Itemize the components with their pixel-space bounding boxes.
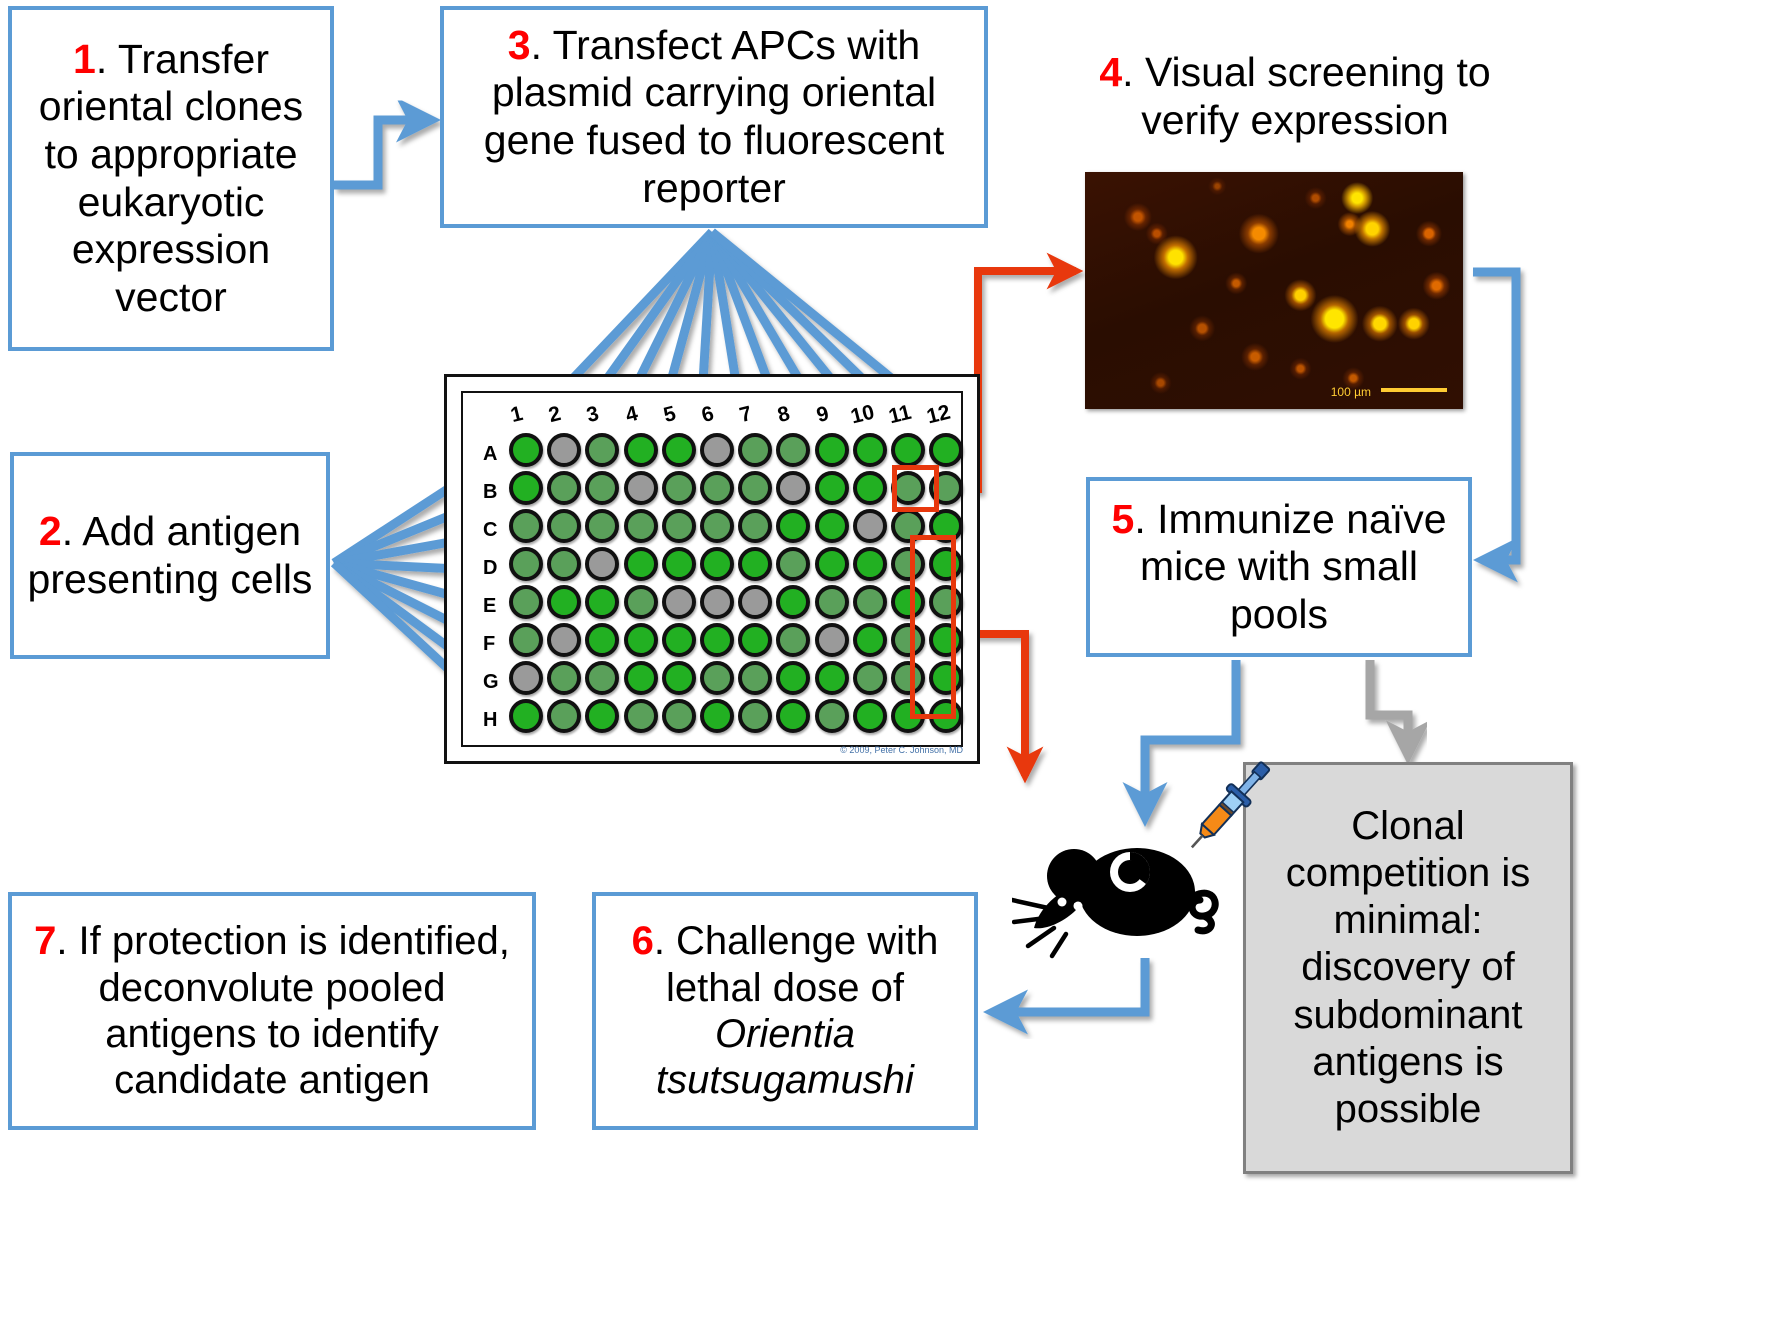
plate-well-C6[interactable] bbox=[700, 509, 734, 543]
workflow-diagram: 1. Transfer oriental clones to appropria… bbox=[0, 0, 1772, 1334]
plate-well-E2[interactable] bbox=[547, 585, 581, 619]
selected-well-highlight[interactable] bbox=[892, 465, 939, 512]
plate-well-F1[interactable] bbox=[509, 623, 543, 657]
plate-well-H6[interactable] bbox=[700, 699, 734, 733]
step-6-species: Orientia tsutsugamushi bbox=[656, 1012, 914, 1102]
step-3-text: . Transfect APCs with plasmid carrying o… bbox=[484, 22, 944, 211]
plate-well-B6[interactable] bbox=[700, 471, 734, 505]
plate-well-A7[interactable] bbox=[738, 433, 772, 467]
plate-well-D3[interactable] bbox=[585, 547, 619, 581]
plate-well-B2[interactable] bbox=[547, 471, 581, 505]
plate-well-H2[interactable] bbox=[547, 699, 581, 733]
plate-well-B5[interactable] bbox=[662, 471, 696, 505]
plate-column-label-2: 2 bbox=[546, 402, 563, 428]
plate-column-headers: 123456789101112 bbox=[513, 403, 965, 429]
plate-well-F2[interactable] bbox=[547, 623, 581, 657]
step-1-box[interactable]: 1. Transfer oriental clones to appropria… bbox=[8, 6, 334, 351]
plate-well-D6[interactable] bbox=[700, 547, 734, 581]
plate-well-H9[interactable] bbox=[815, 699, 849, 733]
plate-row-label-F: F bbox=[483, 633, 495, 656]
plate-well-G4[interactable] bbox=[624, 661, 658, 695]
plate-well-G9[interactable] bbox=[815, 661, 849, 695]
plate-well-F7[interactable] bbox=[738, 623, 772, 657]
plate-column-label-4: 4 bbox=[623, 402, 640, 428]
plate-well-G8[interactable] bbox=[776, 661, 810, 695]
plate-well-C1[interactable] bbox=[509, 509, 543, 543]
plate-well-A4[interactable] bbox=[624, 433, 658, 467]
step-6-box[interactable]: 6. Challenge with lethal dose of Orienti… bbox=[592, 892, 978, 1130]
plate-column-label-3: 3 bbox=[585, 402, 602, 428]
step-2-number: 2 bbox=[39, 508, 62, 554]
plate-well-F8[interactable] bbox=[776, 623, 810, 657]
plate-copyright: © 2009, Peter C. Johnson, MD bbox=[840, 745, 963, 755]
plate-well-D10[interactable] bbox=[853, 547, 887, 581]
plate-well-A10[interactable] bbox=[853, 433, 887, 467]
plate-well-C5[interactable] bbox=[662, 509, 696, 543]
plate-well-F6[interactable] bbox=[700, 623, 734, 657]
plate-well-E4[interactable] bbox=[624, 585, 658, 619]
plate-well-G3[interactable] bbox=[585, 661, 619, 695]
plate-well-E6[interactable] bbox=[700, 585, 734, 619]
plate-well-D2[interactable] bbox=[547, 547, 581, 581]
plate-well-C2[interactable] bbox=[547, 509, 581, 543]
step-3-number: 3 bbox=[508, 22, 531, 68]
plate-column-label-11: 11 bbox=[886, 401, 913, 430]
plate-well-D4[interactable] bbox=[624, 547, 658, 581]
plate-well-B4[interactable] bbox=[624, 471, 658, 505]
plate-well-F5[interactable] bbox=[662, 623, 696, 657]
plate-well-H1[interactable] bbox=[509, 699, 543, 733]
plate-well-B9[interactable] bbox=[815, 471, 849, 505]
plate-well-D5[interactable] bbox=[662, 547, 696, 581]
plate-well-B3[interactable] bbox=[585, 471, 619, 505]
arrow-step1-to-step3 bbox=[334, 120, 432, 185]
plate-well-F3[interactable] bbox=[585, 623, 619, 657]
plate-well-B8[interactable] bbox=[776, 471, 810, 505]
step-5-text: . Immunize naïve mice with small pools bbox=[1134, 496, 1446, 637]
plate-well-B10[interactable] bbox=[853, 471, 887, 505]
plate-well-H10[interactable] bbox=[853, 699, 887, 733]
fluorescence-micrograph-image: 100 µm bbox=[1085, 172, 1463, 409]
plate-row-label-A: A bbox=[483, 443, 497, 466]
plate-well-G1[interactable] bbox=[509, 661, 543, 695]
plate-well-G10[interactable] bbox=[853, 661, 887, 695]
step-4-title: 4. Visual screening to verify expression bbox=[1060, 42, 1530, 152]
plate-well-H4[interactable] bbox=[624, 699, 658, 733]
plate-well-A1[interactable] bbox=[509, 433, 543, 467]
step-4-number: 4 bbox=[1099, 49, 1122, 95]
plate-column-label-6: 6 bbox=[699, 402, 716, 428]
plate-well-C7[interactable] bbox=[738, 509, 772, 543]
plate-well-E9[interactable] bbox=[815, 585, 849, 619]
step-5-box[interactable]: 5. Immunize naïve mice with small pools bbox=[1086, 477, 1472, 657]
plate-well-D8[interactable] bbox=[776, 547, 810, 581]
plate-row-label-B: B bbox=[483, 481, 497, 504]
plate-row-label-D: D bbox=[483, 557, 497, 580]
plate-well-E8[interactable] bbox=[776, 585, 810, 619]
plate-well-B7[interactable] bbox=[738, 471, 772, 505]
step-7-box[interactable]: 7. If protection is identified, deconvol… bbox=[8, 892, 536, 1130]
plate-well-G2[interactable] bbox=[547, 661, 581, 695]
step-7-text: . If protection is identified, deconvolu… bbox=[56, 919, 510, 1102]
step-2-box[interactable]: 2. Add antigen presenting cells bbox=[10, 452, 330, 659]
plate-well-F9[interactable] bbox=[815, 623, 849, 657]
plate-well-A6[interactable] bbox=[700, 433, 734, 467]
plate-well-H8[interactable] bbox=[776, 699, 810, 733]
plate-well-E5[interactable] bbox=[662, 585, 696, 619]
plate-well-C4[interactable] bbox=[624, 509, 658, 543]
arrow-mouse-to-step6 bbox=[992, 958, 1145, 1012]
plate-row-label-C: C bbox=[483, 519, 497, 542]
selected-column-highlight[interactable] bbox=[910, 535, 956, 719]
plate-well-G5[interactable] bbox=[662, 661, 696, 695]
step-6-text: . Challenge with lethal dose of bbox=[654, 919, 939, 1009]
plate-well-B1[interactable] bbox=[509, 471, 543, 505]
plate-well-G7[interactable] bbox=[738, 661, 772, 695]
plate-well-C3[interactable] bbox=[585, 509, 619, 543]
step-5-number: 5 bbox=[1112, 496, 1135, 542]
plate-row-label-H: H bbox=[483, 709, 497, 732]
plate-well-A2[interactable] bbox=[547, 433, 581, 467]
plate-well-F4[interactable] bbox=[624, 623, 658, 657]
plate-column-label-10: 10 bbox=[848, 401, 876, 430]
plate-well-E10[interactable] bbox=[853, 585, 887, 619]
plate-well-A3[interactable] bbox=[585, 433, 619, 467]
plate-well-E3[interactable] bbox=[585, 585, 619, 619]
plate-well-A12[interactable] bbox=[929, 433, 963, 467]
96-well-plate[interactable]: 123456789101112 ABCDEFGH © 2009, Peter C… bbox=[444, 374, 980, 764]
plate-row-label-E: E bbox=[483, 595, 496, 618]
clonal-competition-text: Clonal competition is minimal: discovery… bbox=[1246, 803, 1570, 1133]
plate-well-D7[interactable] bbox=[738, 547, 772, 581]
plate-well-H3[interactable] bbox=[585, 699, 619, 733]
clonal-competition-note: Clonal competition is minimal: discovery… bbox=[1243, 762, 1573, 1174]
plate-well-A8[interactable] bbox=[776, 433, 810, 467]
plate-column-label-8: 8 bbox=[776, 402, 793, 428]
plate-well-D1[interactable] bbox=[509, 547, 543, 581]
plate-column-label-12: 12 bbox=[925, 401, 953, 430]
scale-bar-label: 100 µm bbox=[1331, 385, 1371, 399]
plate-well-H5[interactable] bbox=[662, 699, 696, 733]
plate-row-label-G: G bbox=[483, 671, 499, 694]
step-3-box[interactable]: 3. Transfect APCs with plasmid carrying … bbox=[440, 6, 988, 228]
plate-well-E1[interactable] bbox=[509, 585, 543, 619]
step-7-number: 7 bbox=[34, 919, 56, 963]
plate-well-A5[interactable] bbox=[662, 433, 696, 467]
mouse-silhouette-icon bbox=[1012, 830, 1222, 960]
plate-well-H7[interactable] bbox=[738, 699, 772, 733]
plate-well-C10[interactable] bbox=[853, 509, 887, 543]
plate-well-D9[interactable] bbox=[815, 547, 849, 581]
plate-well-A11[interactable] bbox=[891, 433, 925, 467]
plate-well-A9[interactable] bbox=[815, 433, 849, 467]
plate-well-E7[interactable] bbox=[738, 585, 772, 619]
plate-column-label-5: 5 bbox=[661, 402, 678, 428]
scale-bar bbox=[1381, 388, 1447, 392]
plate-well-F10[interactable] bbox=[853, 623, 887, 657]
arrow-step5-to-note bbox=[1370, 660, 1408, 756]
step-2-text: . Add antigen presenting cells bbox=[28, 508, 313, 602]
plate-well-C9[interactable] bbox=[815, 509, 849, 543]
plate-well-G6[interactable] bbox=[700, 661, 734, 695]
step-4-text: . Visual screening to verify expression bbox=[1122, 49, 1490, 143]
step-1-number: 1 bbox=[73, 36, 96, 82]
step-6-number: 6 bbox=[632, 919, 654, 963]
arrow-micrograph-to-step5 bbox=[1473, 272, 1516, 560]
plate-well-C8[interactable] bbox=[776, 509, 810, 543]
plate-column-label-9: 9 bbox=[814, 402, 831, 428]
plate-column-label-7: 7 bbox=[737, 402, 754, 428]
